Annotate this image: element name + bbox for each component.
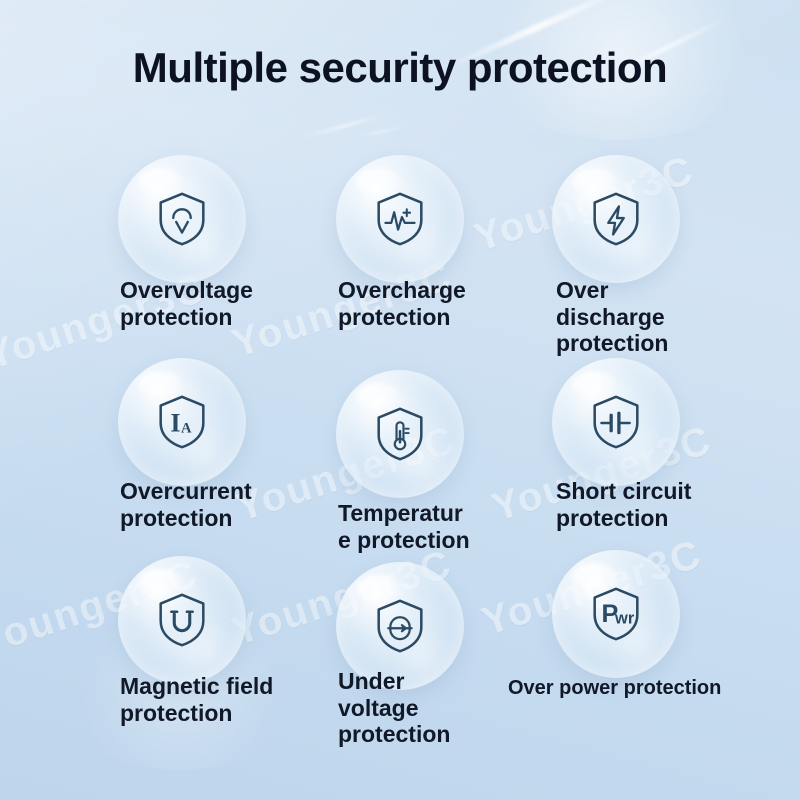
bubble-short-circuit [552, 358, 680, 486]
shield-waveform-icon [336, 155, 464, 283]
shield-pwr-icon: P wr [552, 550, 680, 678]
feature-label-magnetic-field: Magnetic field protection [120, 673, 350, 726]
feature-label-overcurrent: Overcurrent protection [120, 478, 335, 531]
feature-label-over-discharge: Over discharge protection [556, 277, 771, 357]
bubble-over-discharge [552, 155, 680, 283]
shield-thermometer-icon [336, 370, 464, 498]
light-streak [352, 124, 411, 139]
feature-label-overvoltage: Overvoltage protection [120, 277, 330, 330]
bubble-over-power: P wr [552, 550, 680, 678]
svg-text:wr: wr [614, 610, 635, 628]
svg-text:A: A [181, 421, 192, 437]
poster-canvas: Younger3C Younger3C Younger3C Younger3C … [0, 0, 800, 800]
bubble-overcharge [336, 155, 464, 283]
shield-magnet-icon [118, 556, 246, 684]
bubble-overvoltage [118, 155, 246, 283]
feature-label-short-circuit: Short circuit protection [556, 478, 771, 531]
feature-label-over-power: Over power protection [508, 677, 800, 700]
page-title: Multiple security protection [0, 44, 800, 92]
feature-label-overcharge: Overcharge protection [338, 277, 548, 330]
shield-ampere-icon: I A [118, 358, 246, 486]
bubble-overcurrent: I A [118, 358, 246, 486]
feature-label-temperature: Temperatur e protection [338, 500, 558, 553]
shield-capacitor-icon [552, 358, 680, 486]
bubble-temperature [336, 370, 464, 498]
svg-text:I: I [170, 409, 180, 438]
shield-voltage-icon [118, 155, 246, 283]
light-streak [297, 112, 391, 141]
shield-lightning-icon [552, 155, 680, 283]
bubble-magnetic-field [118, 556, 246, 684]
